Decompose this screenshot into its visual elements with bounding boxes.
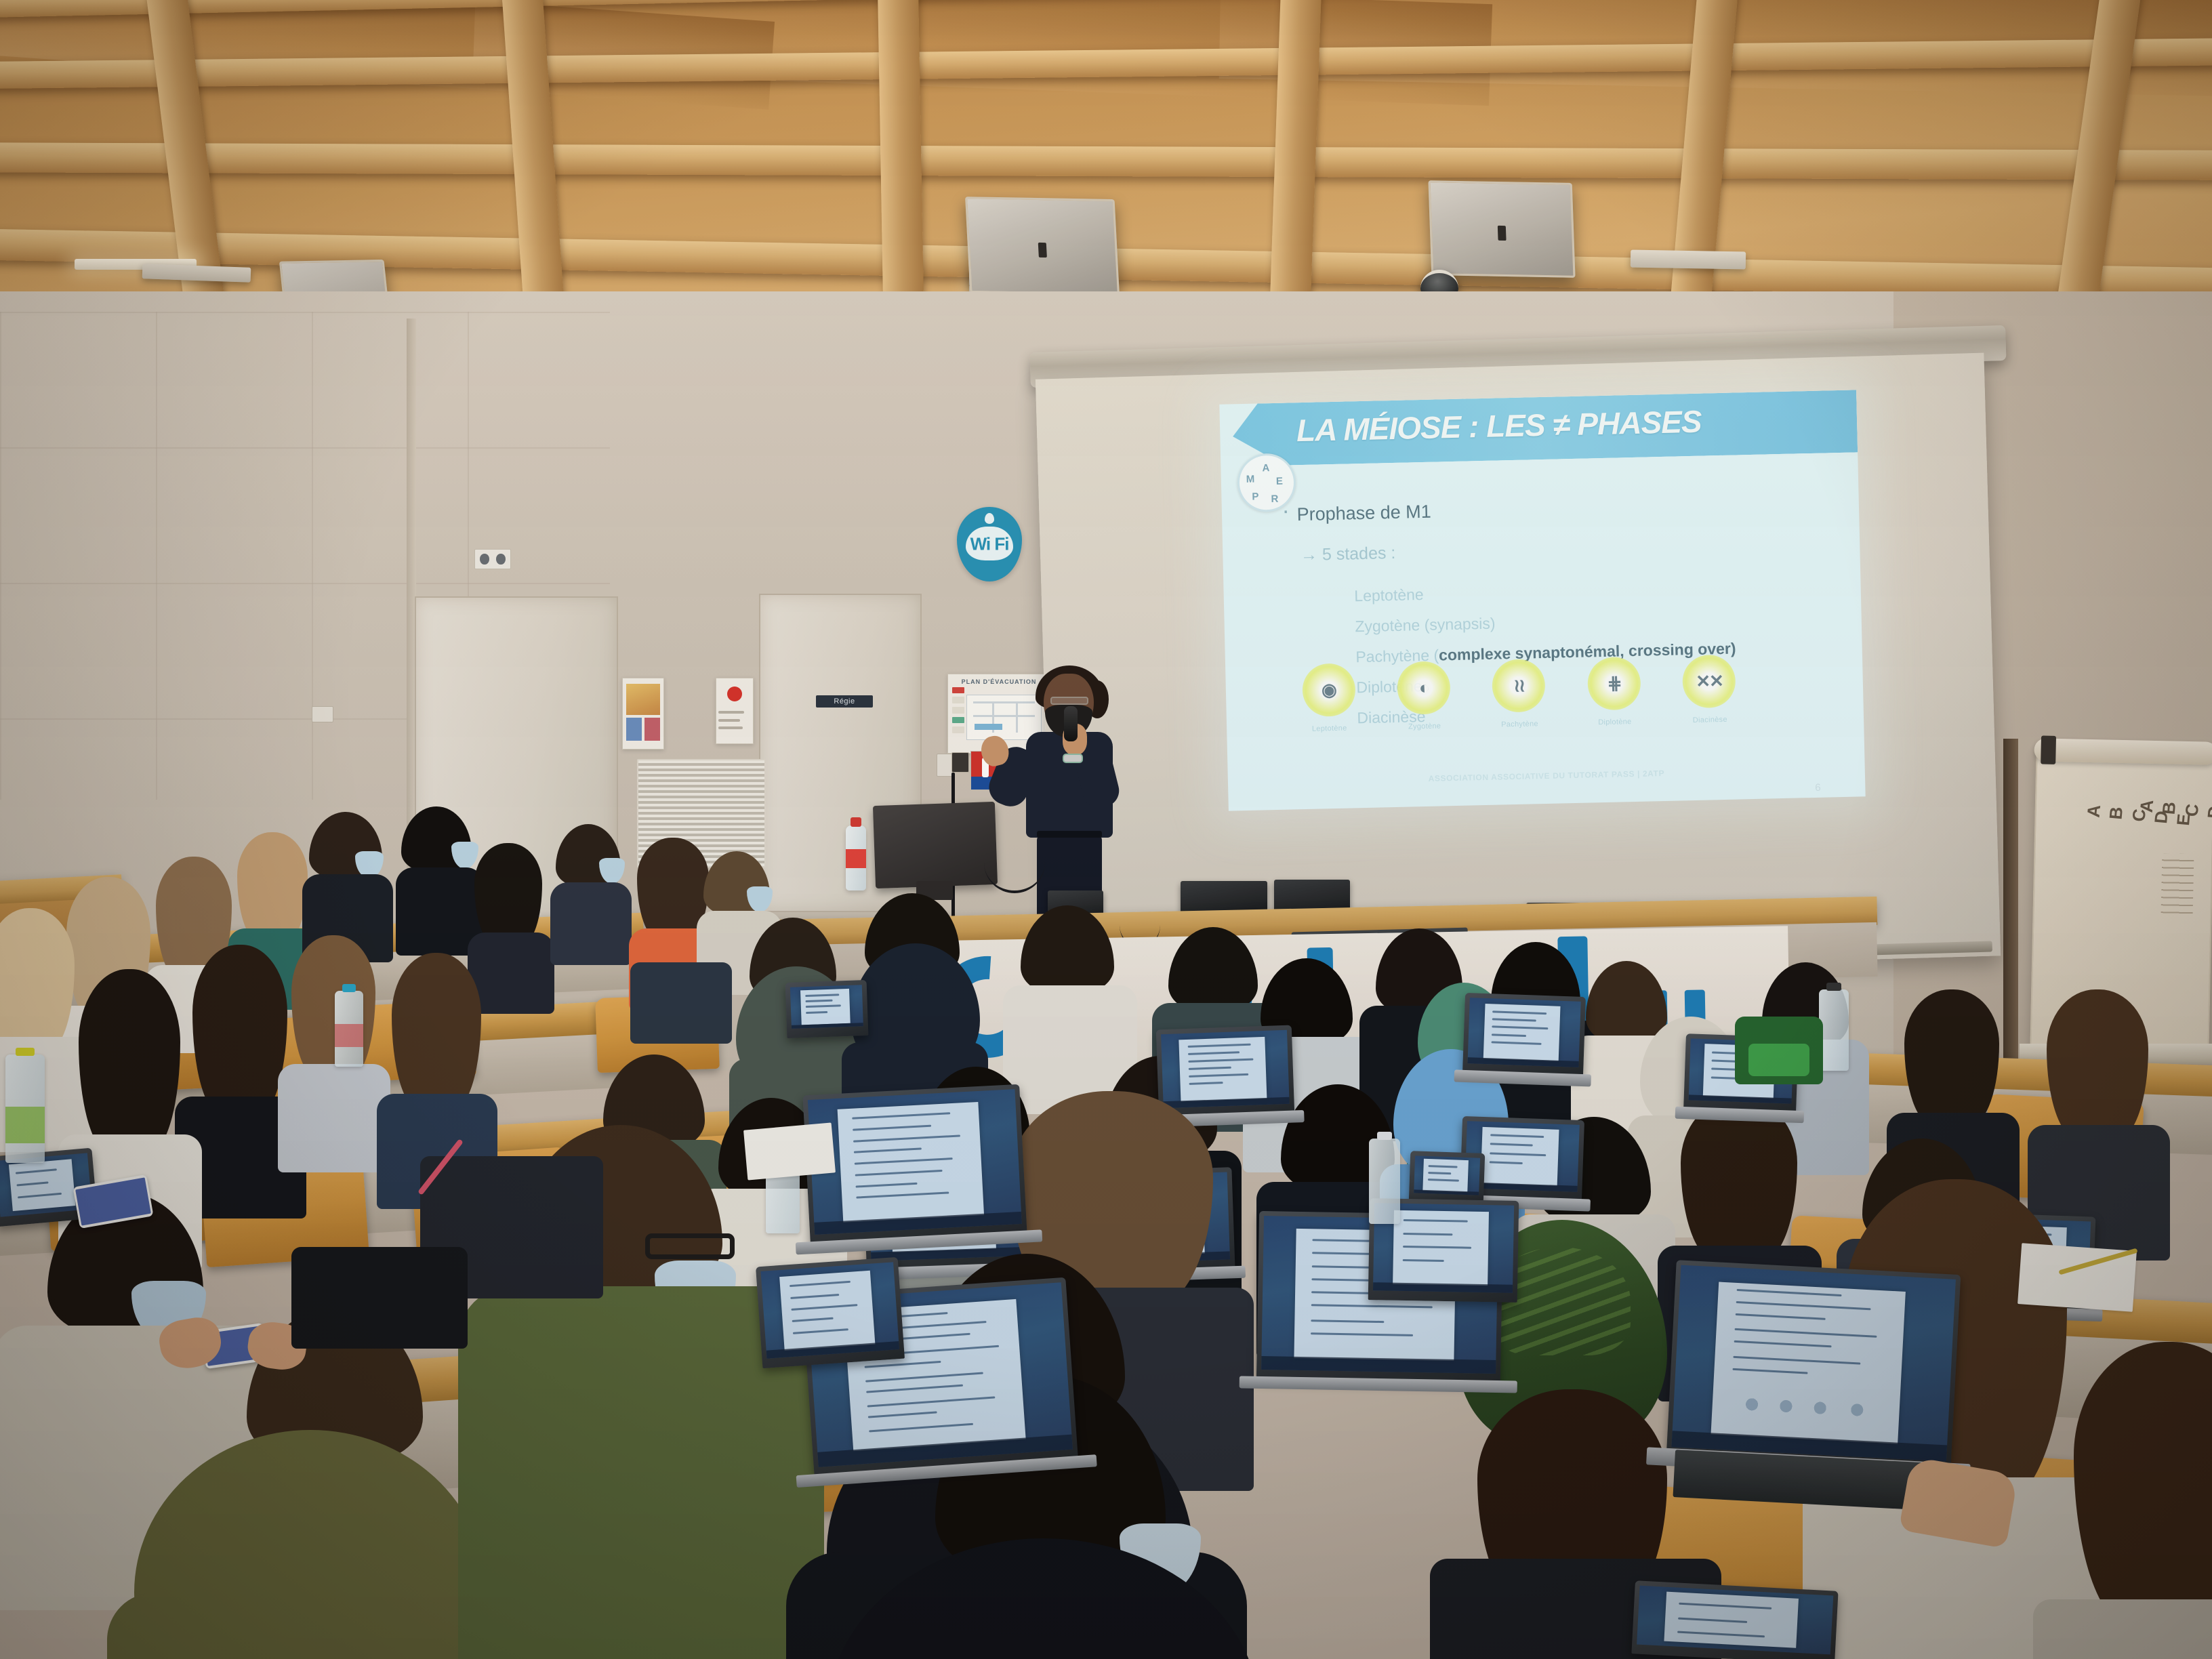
flipchart-clip [2041, 735, 2056, 764]
lecturer-belt [1037, 831, 1102, 838]
lecturer-monitor [873, 802, 998, 888]
slide-bullet-prophase: Prophase de M1 [1279, 492, 1827, 525]
water-bottle [1369, 1139, 1400, 1224]
cable [984, 832, 1045, 893]
flipchart-roll [2034, 738, 2212, 765]
water-bottle [5, 1054, 45, 1163]
slide-page-number: 6 [1815, 782, 1821, 794]
laptop[interactable] [1156, 1025, 1294, 1118]
glasses-icon [1050, 697, 1088, 705]
flipchart-sketch [2161, 853, 2194, 919]
phase-circle-icon: ≀≀ [1492, 659, 1546, 713]
wristwatch-icon [1063, 754, 1083, 763]
laptop-foreground-left[interactable] [802, 1084, 1027, 1244]
phase-cell: ◉ Leptotène [1289, 663, 1368, 734]
ceiling-speaker [965, 197, 1120, 295]
wall-socket[interactable] [951, 752, 969, 773]
ceiling-speaker [1428, 180, 1575, 278]
slide-arrow-stades: → 5 stades : [1300, 533, 1828, 565]
laptop-foreground-bottom-right[interactable] [1666, 1260, 1961, 1471]
laptop-bottom-far-right[interactable] [1631, 1580, 1838, 1659]
phase-circle-icon: ◐ [1397, 661, 1451, 715]
laptop-foreground-far-left[interactable] [756, 1257, 905, 1368]
laptop[interactable] [1462, 993, 1586, 1077]
lecture-hall-photo: Régie PLAN D'ÉVACUATION [0, 0, 2212, 1659]
green-pouch [1748, 1044, 1809, 1076]
slide-footer: ASSOCIATION ASSOCIATIVE DU TUTORAT PASS … [1228, 764, 1865, 787]
stage-item: Leptotène [1354, 576, 1829, 605]
phase-cell: ⋕ Diplotène [1574, 656, 1654, 727]
notebook [743, 1122, 836, 1180]
phase-circle-icon: ⋕ [1587, 657, 1641, 711]
speaker-mount [142, 264, 251, 283]
wifi-sign-label: Wi Fi [957, 534, 1022, 555]
phase-circle-icon: ✕✕ [1682, 655, 1736, 709]
glasses-icon [645, 1233, 735, 1259]
jacket [291, 1247, 468, 1349]
phase-circle-icon: ◉ [1302, 663, 1356, 717]
backpack [630, 962, 732, 1044]
door-sign: Régie [816, 695, 873, 708]
water-bottle-desk [846, 825, 866, 890]
flipchart-frame [2003, 739, 2018, 1078]
speaker-mount [1631, 250, 1746, 270]
water-bottle [1819, 989, 1849, 1071]
phase-cell: ✕✕ Diacinèse [1670, 654, 1749, 725]
laptop[interactable] [785, 980, 869, 1038]
laptop[interactable] [1409, 1151, 1486, 1205]
microphone-icon [1064, 706, 1078, 741]
phase-cell: ≀≀ Pachytène [1479, 659, 1559, 730]
stage-item: Zygotène (synapsis) [1355, 607, 1830, 636]
toilets-sign [474, 549, 511, 569]
presentation-slide: LA MÉIOSE : LES ≠ PHASES A E R P M Proph… [1219, 390, 1865, 811]
wall-poster-b [716, 678, 754, 744]
meiosis-phase-diagram-row: ◉ Leptotène ◐ Zygotène ≀≀ Pachytène ⋕ Di… [1289, 654, 1749, 733]
wall-socket-left[interactable] [312, 706, 333, 722]
light-switch-plate[interactable] [937, 754, 953, 777]
water-bottle [335, 991, 363, 1067]
wall-poster-a [622, 678, 664, 750]
evacuation-legend [952, 687, 964, 742]
phase-cell: ◐ Zygotène [1384, 661, 1463, 732]
